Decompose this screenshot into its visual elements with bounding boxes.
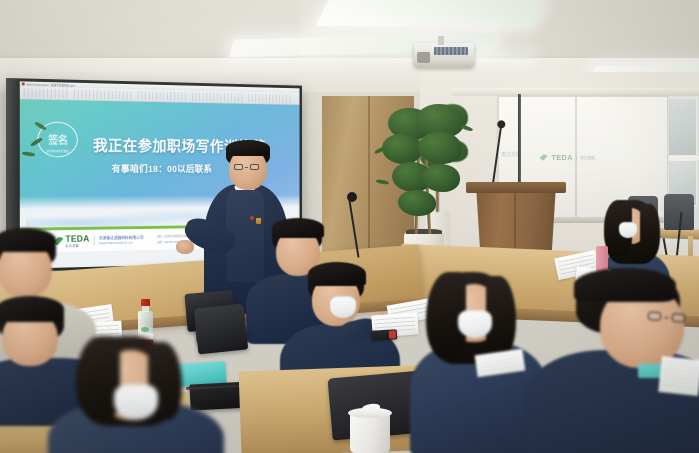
- whiteboard-logo-sub: 泰达滤器: [577, 155, 595, 161]
- presenter-hand: [176, 240, 194, 254]
- plant-soil: [406, 229, 442, 234]
- attendee-hair-top: [0, 228, 56, 252]
- projector-mount: [438, 36, 444, 45]
- seal-text: 签名: [48, 131, 67, 147]
- face-mask: [330, 296, 356, 318]
- plant-foliage: [422, 164, 460, 192]
- footer-company-en: TIANJIN TEDA FILTERS CO.,LTD: [99, 241, 144, 245]
- bottle-logo-icon: [141, 327, 149, 332]
- smartphone[interactable]: [371, 329, 397, 340]
- blinds-valance: [452, 88, 699, 96]
- face-mask: [114, 384, 158, 420]
- browser-icon[interactable]: [156, 252, 163, 253]
- ceiling-light-panel: [468, 52, 532, 60]
- teda-logo: TEDA 泰达滤器: [539, 153, 595, 161]
- leaf-icon: [539, 154, 547, 160]
- window-pane: [668, 98, 697, 156]
- plant-foliage: [398, 190, 436, 216]
- ceiling-projector: [414, 43, 474, 67]
- projector-lens-icon: [417, 52, 430, 63]
- meeting-room-photo: 泰达滤器 TEDA 泰达滤器 WPS Presentation · 职场写作训练…: [0, 0, 699, 453]
- cup-body: [350, 412, 390, 453]
- person-attendee-foreground-left: [56, 336, 216, 453]
- attendee-hair-side: [640, 204, 660, 258]
- bottle-neck: [142, 305, 149, 312]
- attendee-hair-top: [272, 218, 324, 238]
- whiteboard-logo-main: TEDA: [551, 153, 573, 161]
- plant-foliage: [382, 134, 422, 164]
- projector-vents: [434, 47, 468, 55]
- podium-top-surface: [466, 182, 566, 193]
- plant-foliage: [418, 132, 462, 164]
- attendee-hair-top: [0, 296, 64, 322]
- footer-company-cn: 天津泰达滤器材料有限公司: [99, 235, 144, 242]
- seal-subtext: SIGNATURE: [38, 149, 76, 153]
- microphone-head-icon: [347, 192, 357, 202]
- presenter-hair-top: [226, 140, 270, 156]
- attendee-hair-top: [308, 262, 366, 286]
- attendee-hair-side: [76, 336, 120, 418]
- bottle-cap[interactable]: [141, 299, 150, 306]
- ceiling-light-panel: [316, 0, 545, 26]
- coffee-cup[interactable]: [348, 404, 392, 453]
- face-mask: [619, 222, 637, 238]
- attendee-hair-top: [574, 268, 676, 302]
- paper-document: [658, 356, 699, 396]
- face-mask: [458, 310, 492, 338]
- app-icon: [22, 82, 25, 85]
- presenter-glasses: [234, 164, 259, 170]
